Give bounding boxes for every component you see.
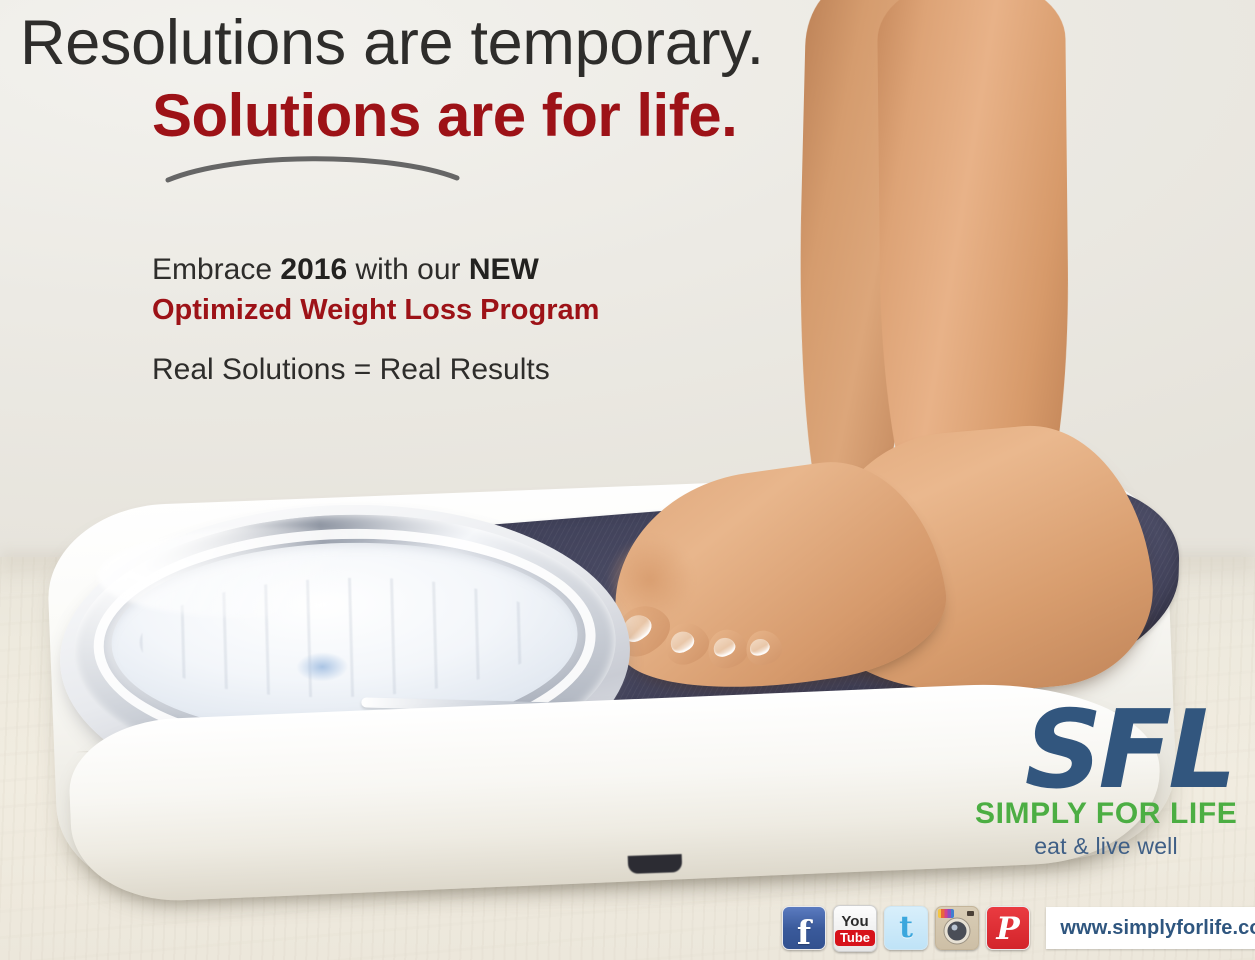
- website-url-text: www.simplyforlife.com: [1060, 917, 1255, 940]
- youtube-icon[interactable]: You Tube: [833, 905, 877, 952]
- website-url-box[interactable]: www.simplyforlife.com: [1046, 907, 1255, 949]
- subhead-with-our-text: with our: [347, 253, 469, 286]
- facebook-icon[interactable]: f: [782, 906, 826, 950]
- twitter-glyph: t: [899, 913, 913, 943]
- instagram-icon[interactable]: [935, 906, 979, 950]
- logo-company-name: SIMPLY FOR LIFE: [975, 798, 1237, 830]
- logo-monogram: SFL: [975, 700, 1237, 802]
- subhead-tagline: Real Solutions = Real Results: [152, 353, 599, 387]
- subhead-new-badge: NEW: [469, 253, 539, 286]
- subhead-year: 2016: [280, 253, 347, 286]
- sfl-logo: SFL SIMPLY FOR LIFE eat & live well: [975, 700, 1237, 860]
- subhead-block: Embrace 2016 with our NEW Optimized Weig…: [152, 250, 599, 387]
- social-media-bar: f You Tube t P www.simplyforlife.com: [782, 906, 1255, 950]
- logo-tagline: eat & live well: [975, 833, 1237, 860]
- advertisement-poster: Resolutions are temporary. Solutions are…: [0, 0, 1255, 960]
- scale-foot: [628, 854, 683, 874]
- pinterest-icon[interactable]: P: [986, 906, 1030, 950]
- swoosh-curve-icon: [165, 150, 460, 188]
- facebook-glyph: f: [797, 916, 811, 949]
- youtube-glyph-tube: Tube: [835, 930, 875, 946]
- instagram-flash: [967, 911, 974, 916]
- headline-line-2: Solutions are for life.: [152, 86, 737, 146]
- pinterest-glyph: P: [996, 914, 1019, 945]
- subhead-line-1: Embrace 2016 with our NEW: [152, 250, 599, 290]
- youtube-glyph-you: You: [841, 914, 868, 929]
- instagram-rainbow-stripe: [938, 909, 954, 918]
- subhead-program-name: Optimized Weight Loss Program: [152, 290, 599, 331]
- twitter-icon[interactable]: t: [884, 906, 928, 950]
- instagram-lens: [945, 918, 970, 943]
- subhead-embrace-text: Embrace: [152, 253, 280, 286]
- headline-line-1: Resolutions are temporary.: [20, 12, 764, 75]
